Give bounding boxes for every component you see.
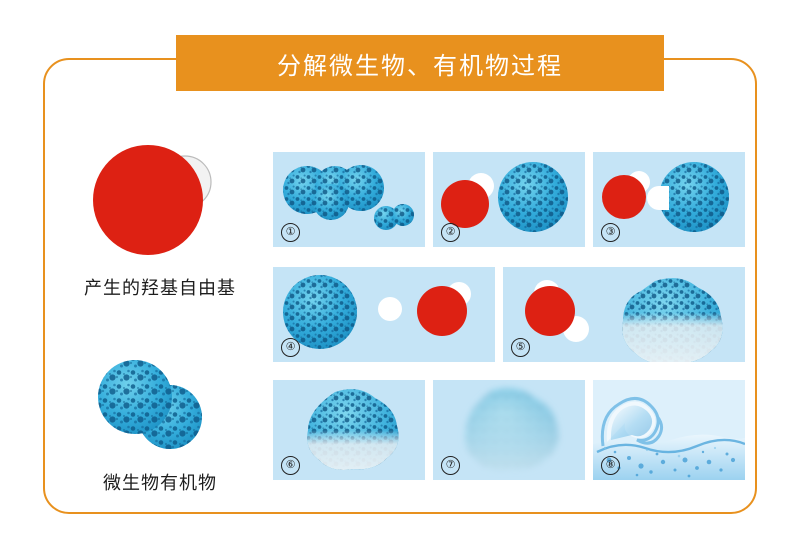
legend-column: 产生的羟基自由基	[60, 140, 260, 500]
red-radical-dot	[602, 175, 646, 219]
panel-number-2: ②	[441, 223, 460, 242]
legend-item-radical: 产生的羟基自由基	[60, 140, 260, 300]
panel-4-artwork	[273, 267, 495, 362]
legend-item-microbe: 微生物有机物	[60, 355, 260, 495]
title-banner: 分解微生物、有机物过程	[176, 35, 664, 91]
red-hydroxyl-radical-icon	[60, 140, 260, 270]
panel-number-4: ④	[281, 338, 300, 357]
panel-5-artwork	[503, 267, 745, 362]
process-panel-7: ⑦	[433, 380, 585, 480]
red-radical-dot	[525, 286, 575, 336]
degrading-microbe-blob	[293, 380, 413, 480]
microbe-sphere	[493, 157, 583, 247]
process-panel-6: ⑥	[273, 380, 425, 480]
white-attachment-notch	[647, 186, 669, 210]
legend-label-radical: 产生的羟基自由基	[60, 274, 260, 300]
panel-number-6: ⑥	[281, 456, 300, 475]
panel-number-7: ⑦	[441, 456, 460, 475]
legend-label-microbe: 微生物有机物	[60, 469, 260, 495]
illustration-stage: 分解微生物、有机物过程 产生的羟基自由基	[0, 0, 800, 550]
process-panel-8: ⑧	[593, 380, 745, 480]
process-panel-1: ①	[273, 152, 425, 247]
page-title: 分解微生物、有机物过程	[277, 46, 563, 81]
panel-number-3: ③	[601, 223, 620, 242]
blue-porous-microbe-icon	[60, 355, 260, 465]
panel-number-8: ⑧	[601, 456, 620, 475]
degraded-microbe-blob	[613, 267, 733, 362]
white-hydrogen-dot-free	[378, 297, 402, 321]
dissolving-microbe-blob	[453, 380, 573, 480]
process-panel-5: ⑤	[503, 267, 745, 362]
panel-number-5: ⑤	[511, 338, 530, 357]
red-radical-dot	[417, 286, 467, 336]
panel-number-1: ①	[281, 223, 300, 242]
red-radical-dot	[441, 180, 489, 228]
process-panel-4: ④	[273, 267, 495, 362]
process-panel-3: ③	[593, 152, 745, 247]
process-panel-2: ②	[433, 152, 585, 247]
